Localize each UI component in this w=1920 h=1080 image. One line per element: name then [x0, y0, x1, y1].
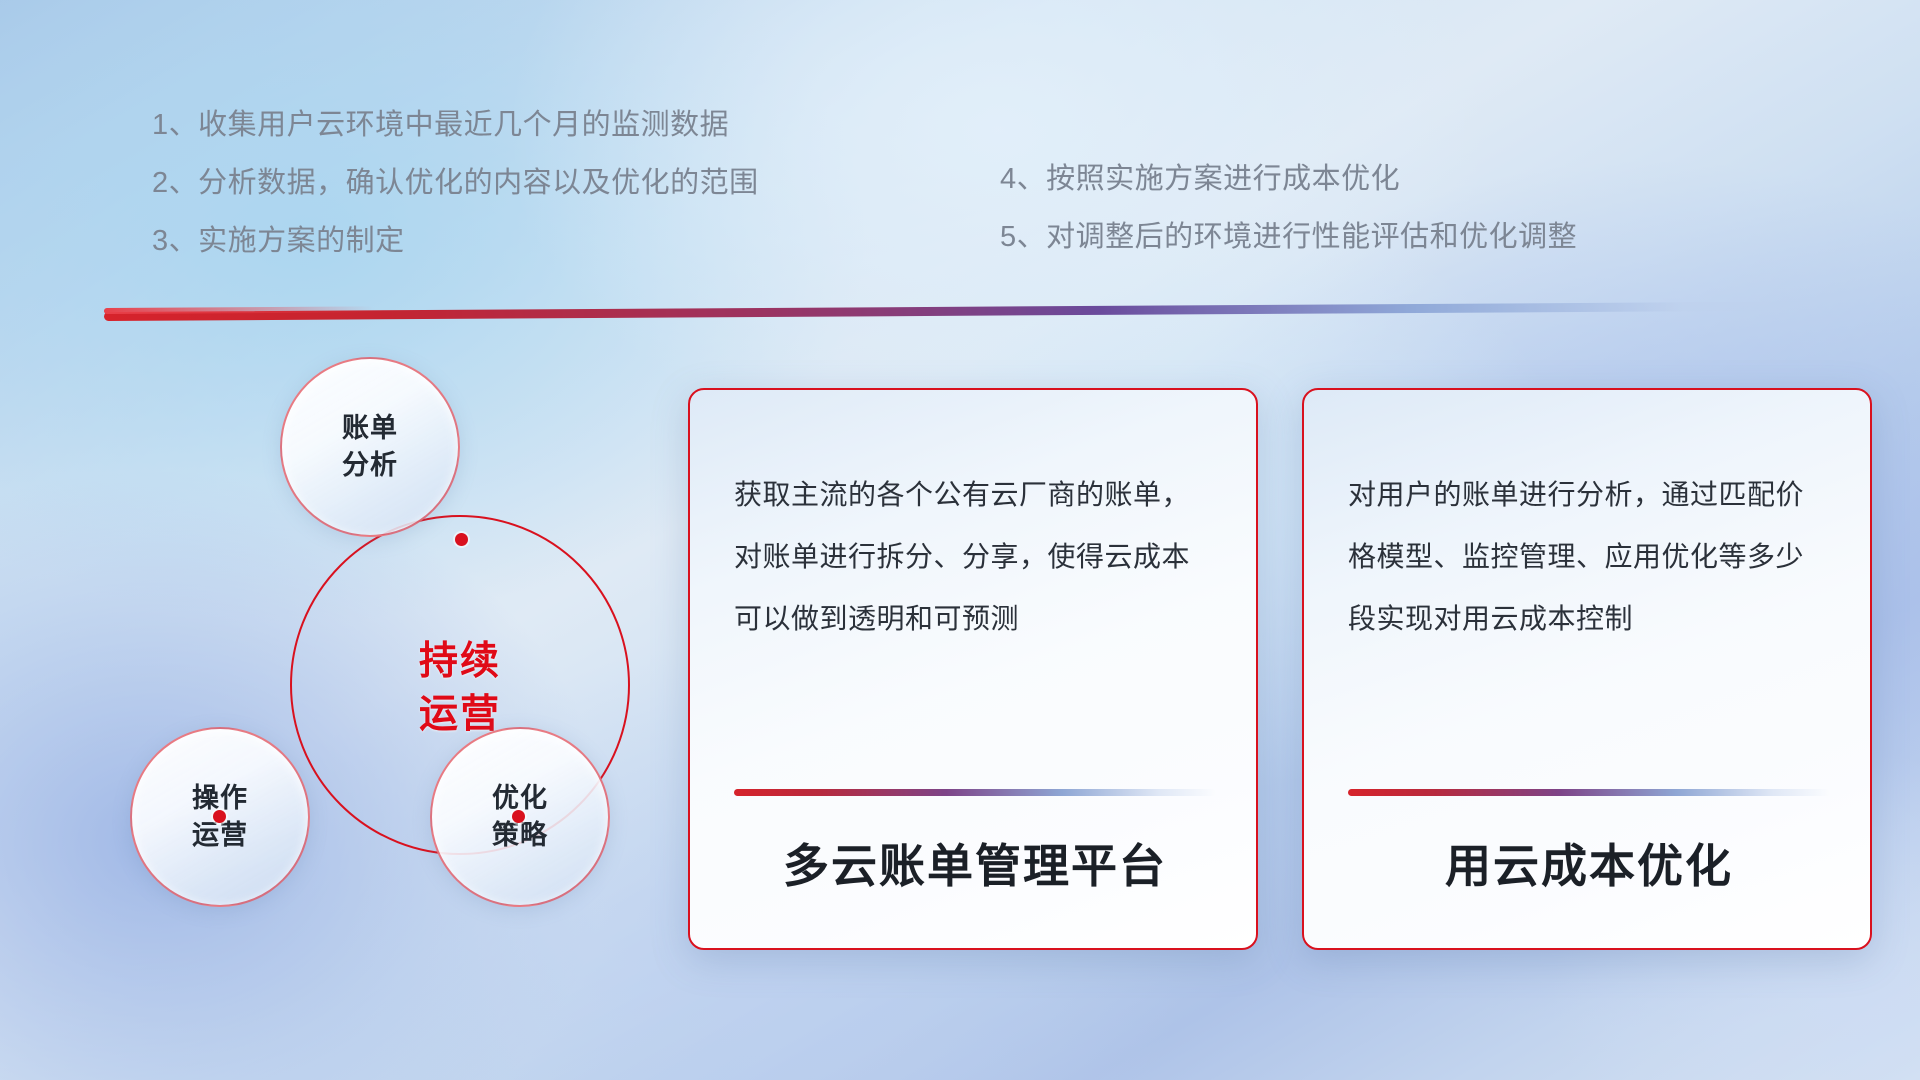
node-bill-analysis-label: 账单 分析	[342, 410, 398, 484]
step-item-2: 2、分析数据，确认优化的内容以及优化的范围	[152, 154, 912, 212]
step-item-4: 4、按照实施方案进行成本优化	[1000, 150, 1790, 208]
step-item-3: 3、实施方案的制定	[152, 212, 912, 270]
card-cloud-cost-optimization[interactable]: 对用户的账单进行分析，通过匹配价格模型、监控管理、应用优化等多少段实现对用云成本…	[1302, 388, 1872, 950]
continuous-operation-diagram: 持续 运营 账单 分析 操作 运营 优化 策略	[100, 345, 640, 955]
connector-dot-right	[512, 810, 525, 823]
center-label-line-2: 运营	[290, 688, 630, 741]
steps-column-right: 4、按照实施方案进行成本优化 5、对调整后的环境进行性能评估和优化调整	[1000, 150, 1790, 266]
card-accent-rule	[1348, 789, 1830, 796]
node-label-line-2: 分析	[342, 447, 398, 484]
card-body-text: 对用户的账单进行分析，通过匹配价格模型、监控管理、应用优化等多少段实现对用云成本…	[1348, 464, 1826, 650]
card-multicloud-billing-platform[interactable]: 获取主流的各个公有云厂商的账单，对账单进行拆分、分享，使得云成本可以做到透明和可…	[688, 388, 1258, 950]
node-label-line-1: 账单	[342, 410, 398, 447]
card-title: 用云成本优化	[1348, 830, 1830, 896]
step-item-1: 1、收集用户云环境中最近几个月的监测数据	[152, 96, 912, 154]
node-bill-analysis[interactable]: 账单 分析	[280, 357, 460, 537]
connector-dot-left	[213, 810, 226, 823]
step-item-5: 5、对调整后的环境进行性能评估和优化调整	[1000, 208, 1790, 266]
connector-dot-top	[455, 533, 468, 546]
center-label-line-1: 持续	[290, 635, 630, 688]
diagram-center-label: 持续 运营	[290, 635, 630, 741]
card-accent-rule	[734, 789, 1216, 796]
card-body-text: 获取主流的各个公有云厂商的账单，对账单进行拆分、分享，使得云成本可以做到透明和可…	[734, 464, 1212, 650]
card-title: 多云账单管理平台	[734, 830, 1216, 896]
steps-column-left: 1、收集用户云环境中最近几个月的监测数据 2、分析数据，确认优化的内容以及优化的…	[152, 96, 912, 270]
